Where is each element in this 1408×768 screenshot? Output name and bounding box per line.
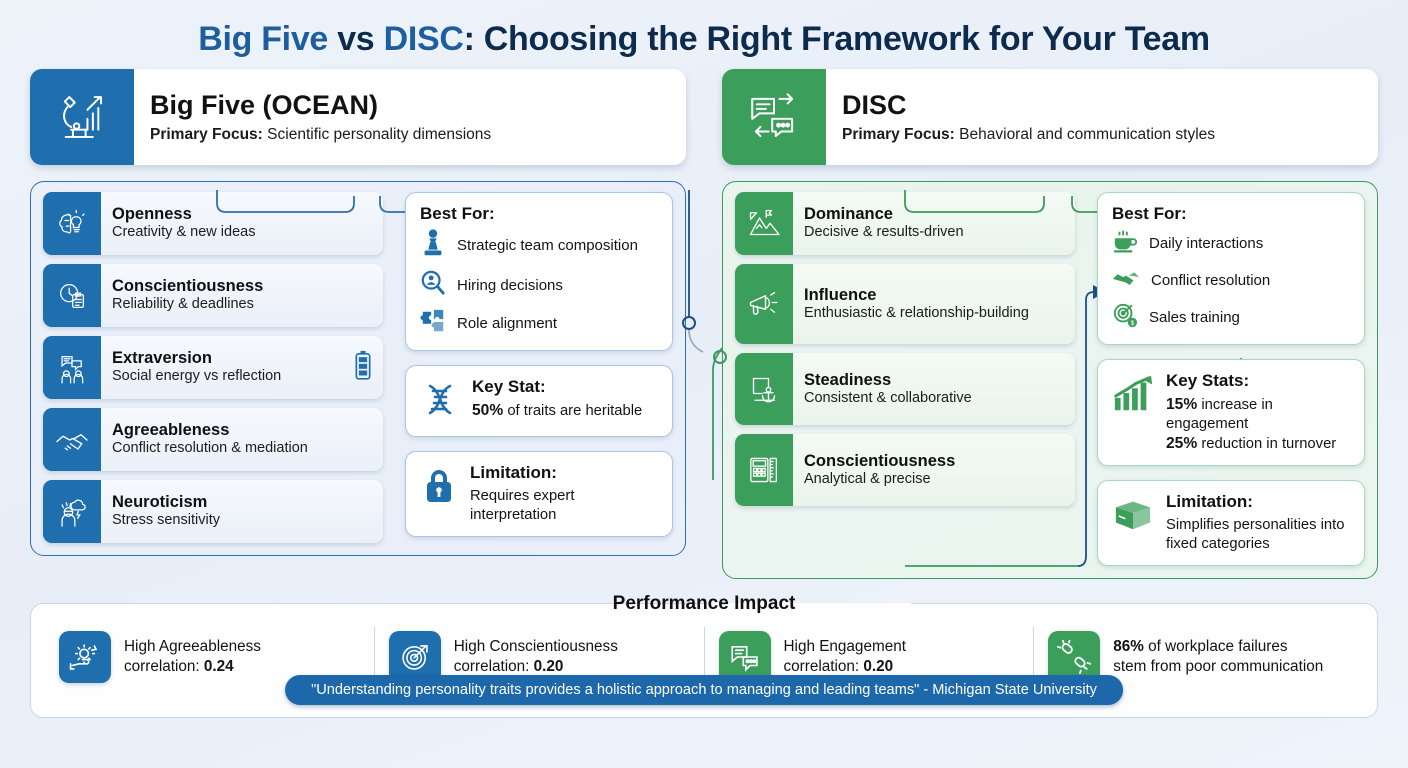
footer-wrap: Performance Impact High Agreeableness co… (0, 593, 1408, 718)
best-for-item[interactable]: Daily interactions (1112, 228, 1350, 259)
stat-line-2: correlation: 0.20 (784, 657, 906, 677)
key-stat-1-value: 15% (1166, 396, 1197, 413)
column-disc: DISC Primary Focus: Behavioral and commu… (722, 71, 1378, 579)
best-for-title: Best For: (420, 204, 658, 224)
stat-line-2-value: 0.20 (863, 658, 893, 675)
microscope-chart-icon (30, 69, 134, 165)
stat-line-2: correlation: 0.24 (124, 657, 261, 677)
trait-desc: Reliability & deadlines (112, 296, 372, 313)
stat-line-2: stem from poor communication (1113, 657, 1323, 677)
stat-line-2-label: correlation: (124, 658, 204, 675)
key-stat-value: 50% (472, 402, 503, 419)
trait-name: Agreeableness (112, 421, 372, 439)
trait-text: Agreeableness Conflict resolution & medi… (101, 408, 383, 471)
best-for-list: Daily interactions Conflict resolution (1112, 228, 1350, 333)
performance-stat-text: High Conscientiousness correlation: 0.20 (454, 637, 618, 677)
disc-focus: Primary Focus: Behavioral and communicat… (842, 126, 1215, 144)
target-moneybag-icon: $ (1112, 302, 1138, 333)
big-five-body: Openness Creativity & new ideas (43, 192, 673, 543)
trait-row[interactable]: Neuroticism Stress sensitivity (43, 480, 383, 543)
stat-line-2-value: 0.24 (204, 658, 234, 675)
performance-stat-text: 86% of workplace failures stem from poor… (1113, 637, 1323, 677)
trait-text: Influence Enthusiastic & relationship-bu… (793, 264, 1075, 344)
big-five-trait-list: Openness Creativity & new ideas (43, 192, 383, 543)
trait-desc: Enthusiastic & relationship-building (804, 305, 1064, 322)
puzzle-pieces-icon (420, 308, 446, 339)
growth-chart-icon (1112, 371, 1154, 419)
trait-row[interactable]: Conscientiousness Reliability & deadline… (43, 264, 383, 327)
svg-text:$: $ (1131, 320, 1135, 327)
big-five-key-stat-card: Key Stat: 50% of traits are heritable (405, 365, 673, 437)
key-stat-line-1: 15% increase in engagement (1166, 395, 1350, 434)
page-title: Big Five vs DISC: Choosing the Right Fra… (0, 0, 1408, 59)
performance-impact-legend: Performance Impact (601, 593, 808, 615)
trait-name: Dominance (804, 205, 1064, 223)
disc-body: Dominance Decisive & results-driven (735, 192, 1365, 566)
stat-line-1-text: of workplace failures (1144, 638, 1288, 655)
battery-icon (353, 348, 373, 387)
dna-icon (420, 377, 460, 425)
mountain-flag-icon (735, 192, 793, 255)
stat-line-2-label: correlation: (454, 658, 534, 675)
trait-row[interactable]: Steadiness Consistent & collaborative (735, 353, 1075, 425)
limitation-text: Simplifies personalities into fixed cate… (1166, 516, 1350, 554)
trait-desc: Conflict resolution & mediation (112, 440, 372, 457)
trait-text: Steadiness Consistent & collaborative (793, 353, 1075, 425)
stressed-person-cloud-icon (43, 480, 101, 543)
big-five-side-cards: Best For: (405, 192, 673, 543)
stat-line-1-value: 86% (1113, 638, 1144, 655)
title-accent-disc: DISC (384, 20, 464, 58)
column-big-five: Big Five (OCEAN) Primary Focus: Scientif… (30, 71, 686, 556)
calculator-ruler-icon (735, 434, 793, 506)
brain-lightbulb-icon (43, 192, 101, 255)
performance-stat-text: High Engagement correlation: 0.20 (784, 637, 906, 677)
trait-row[interactable]: Influence Enthusiastic & relationship-bu… (735, 264, 1075, 344)
best-for-text: Sales training (1149, 309, 1240, 326)
anchor-icon (735, 353, 793, 425)
best-for-text: Daily interactions (1149, 235, 1263, 252)
limitation-text: Requires expert interpretation (470, 487, 658, 525)
disc-side-cards: Best For: (1097, 192, 1365, 566)
key-stat-desc: of traits are heritable (503, 403, 642, 419)
handshake-icon (1112, 266, 1140, 295)
box-icon (1112, 492, 1154, 538)
trait-row[interactable]: Agreeableness Conflict resolution & medi… (43, 408, 383, 471)
disc-trait-list: Dominance Decisive & results-driven (735, 192, 1075, 566)
trait-name: Neuroticism (112, 493, 372, 511)
stat-line-1: High Engagement (784, 637, 906, 657)
disc-header-card[interactable]: DISC Primary Focus: Behavioral and commu… (722, 69, 1378, 165)
trait-row[interactable]: Openness Creativity & new ideas (43, 192, 383, 255)
big-five-header-text: Big Five (OCEAN) Primary Focus: Scientif… (134, 69, 507, 165)
handshake-icon (43, 408, 101, 471)
clock-clipboard-icon (43, 264, 101, 327)
trait-desc: Analytical & precise (804, 471, 1064, 488)
trait-desc: Creativity & new ideas (112, 224, 372, 241)
title-accent-bigfive: Big Five (198, 20, 328, 58)
title-vs: vs (328, 20, 384, 58)
trait-desc: Decisive & results-driven (804, 224, 1064, 241)
trait-text: Conscientiousness Analytical & precise (793, 434, 1075, 506)
trait-text: Dominance Decisive & results-driven (793, 192, 1075, 255)
key-stat-2-text: reduction in turnover (1197, 436, 1336, 452)
trait-desc: Consistent & collaborative (804, 390, 1064, 407)
trait-row[interactable]: Extraversion Social energy vs reflection (43, 336, 383, 399)
performance-stat-text: High Agreeableness correlation: 0.24 (124, 637, 261, 677)
disc-best-for-card: Best For: (1097, 192, 1365, 345)
trait-row[interactable]: Dominance Decisive & results-driven (735, 192, 1075, 255)
big-five-best-for-card: Best For: (405, 192, 673, 351)
megaphone-icon (735, 264, 793, 344)
performance-impact-section: Performance Impact High Agreeableness co… (30, 593, 1378, 718)
trait-name: Conscientiousness (112, 277, 372, 295)
best-for-item[interactable]: Hiring decisions (420, 270, 658, 301)
key-stat-line-2: 25% reduction in turnover (1166, 434, 1350, 454)
best-for-item[interactable]: $ Sales training (1112, 302, 1350, 333)
best-for-text: Conflict resolution (1151, 272, 1270, 289)
magnifier-person-icon (420, 270, 446, 301)
limitation-title: Limitation: (470, 463, 658, 483)
stat-line-1: 86% of workplace failures (1113, 637, 1323, 657)
trait-name: Steadiness (804, 371, 1064, 389)
disc-focus-label: Primary Focus: (842, 126, 955, 143)
title-rest: : Choosing the Right Framework for Your … (464, 20, 1210, 58)
best-for-item[interactable]: Strategic team composition (420, 228, 658, 263)
limitation-title: Limitation: (1166, 492, 1350, 512)
trait-name: Conscientiousness (804, 452, 1064, 470)
quote-banner: "Understanding personality traits provid… (285, 675, 1123, 705)
big-five-title: Big Five (OCEAN) (150, 90, 491, 121)
key-stats-title: Key Stats: (1166, 371, 1350, 391)
coffee-cup-icon (1112, 228, 1138, 259)
stat-line-2: correlation: 0.20 (454, 657, 618, 677)
trait-name: Influence (804, 286, 1064, 304)
disc-limitation-card: Limitation: Simplifies personalities int… (1097, 480, 1365, 566)
trait-desc: Social energy vs reflection (112, 368, 372, 385)
trait-row[interactable]: Conscientiousness Analytical & precise (735, 434, 1075, 506)
disc-title: DISC (842, 90, 1215, 121)
big-five-limitation-card: Limitation: Requires expert interpretati… (405, 451, 673, 537)
stat-line-2-value: 0.20 (534, 658, 564, 675)
disc-header-text: DISC Primary Focus: Behavioral and commu… (826, 69, 1231, 165)
stat-line-2-label: correlation: (784, 658, 864, 675)
trait-name: Openness (112, 205, 372, 223)
big-five-focus-label: Primary Focus: (150, 126, 263, 143)
people-chat-icon (43, 336, 101, 399)
stat-line-1: High Agreeableness (124, 637, 261, 657)
trait-text: Neuroticism Stress sensitivity (101, 480, 383, 543)
framework-columns: Big Five (OCEAN) Primary Focus: Scientif… (0, 59, 1408, 579)
best-for-text: Role alignment (457, 315, 557, 332)
padlock-icon (420, 463, 458, 511)
disc-key-stats-card: Key Stats: 15% increase in engagement 25… (1097, 359, 1365, 466)
big-five-focus: Primary Focus: Scientific personality di… (150, 126, 491, 144)
big-five-header-card[interactable]: Big Five (OCEAN) Primary Focus: Scientif… (30, 69, 686, 165)
trait-name: Extraversion (112, 349, 372, 367)
trait-text: Extraversion Social energy vs reflection (101, 336, 383, 399)
chat-exchange-icon (722, 69, 826, 165)
disc-body-frame: Dominance Decisive & results-driven (722, 181, 1378, 579)
key-stat-text: 50% of traits are heritable (472, 401, 642, 421)
hand-gear-icon (59, 631, 111, 683)
stat-line-1: High Conscientiousness (454, 637, 618, 657)
best-for-text: Hiring decisions (457, 277, 563, 294)
big-five-body-frame: Openness Creativity & new ideas (30, 181, 686, 556)
trait-desc: Stress sensitivity (112, 512, 372, 529)
trait-text: Openness Creativity & new ideas (101, 192, 383, 255)
key-stat-2-value: 25% (1166, 435, 1197, 452)
big-five-focus-value: Scientific personality dimensions (267, 126, 491, 143)
key-stat-title: Key Stat: (472, 377, 642, 397)
best-for-title: Best For: (1112, 204, 1350, 224)
chess-pawn-icon (420, 228, 446, 263)
disc-focus-value: Behavioral and communication styles (959, 126, 1215, 143)
best-for-item[interactable]: Role alignment (420, 308, 658, 339)
trait-text: Conscientiousness Reliability & deadline… (101, 264, 383, 327)
best-for-text: Strategic team composition (457, 237, 638, 254)
best-for-item[interactable]: Conflict resolution (1112, 266, 1350, 295)
best-for-list: Strategic team composition (420, 228, 658, 339)
